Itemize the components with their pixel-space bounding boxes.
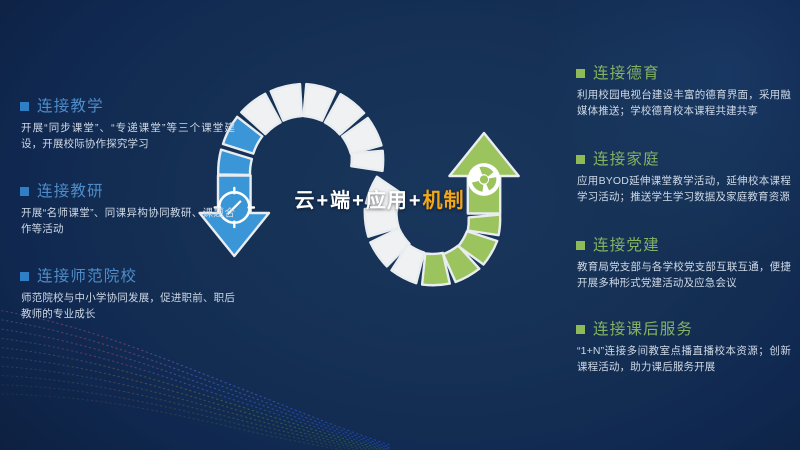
caption-plus-2: + [351, 190, 366, 212]
panel-heading: 连接教学 [20, 99, 235, 115]
square-bullet-icon [20, 102, 29, 111]
panel-heading: 连接教研 [20, 184, 235, 200]
panel-connect-after-school-service[interactable]: 连接课后服务 “1+N”连接多间教室点播直播校本资源；创新课程活动，助力课后服务… [576, 322, 791, 375]
caption-part-3: 应用 [366, 190, 408, 212]
panel-connect-family[interactable]: 连接家庭 应用BYOD延伸课堂教学活动，延伸校本课程学习活动；推送学生学习数据及… [576, 152, 791, 205]
panel-connect-teaching[interactable]: 连接教学 开展“同步课堂”、“专递课堂”等三个课堂建设，开展校际协作探究学习 [20, 99, 235, 152]
caption-part-1: 云 [294, 190, 315, 212]
panel-connect-research[interactable]: 连接教研 开展“名师课堂”、同课异构协同教研、课题合作等活动 [20, 184, 235, 237]
segment-blue-1 [218, 150, 252, 175]
slide-canvas: .seg{stroke:#e9edf0;stroke-width:2.4;str… [0, 0, 800, 450]
panel-heading: 连接党建 [576, 238, 791, 254]
square-bullet-icon [576, 155, 585, 164]
caption-part-2: 端 [330, 190, 351, 212]
square-bullet-icon [20, 187, 29, 196]
panel-body: 应用BYOD延伸课堂教学活动，延伸校本课程学习活动；推送学生学习数据及家庭教育资… [576, 173, 791, 206]
panel-heading: 连接课后服务 [576, 322, 791, 338]
square-bullet-icon [576, 325, 585, 334]
caption-plus-1: + [315, 190, 330, 212]
panel-title: 连接教研 [37, 184, 104, 200]
panel-body: 教育局党支部与各学校党支部互联互通，便捷开展多种形式党建活动及应急会议 [576, 259, 791, 292]
panel-body: 开展“名师课堂”、同课异构协同教研、课题合作等活动 [20, 205, 235, 238]
caption-highlight: 机制 [423, 190, 465, 212]
panel-title: 连接课后服务 [593, 322, 693, 338]
segment-white-8 [351, 151, 383, 171]
panel-title: 连接党建 [593, 238, 660, 254]
panel-connect-party-building[interactable]: 连接党建 教育局党支部与各学校党支部互联互通，便捷开展多种形式党建活动及应急会议 [576, 238, 791, 291]
caption-plus-3: + [408, 190, 423, 212]
center-caption: 云+端+应用+机制 [272, 184, 487, 213]
panel-body: 师范院校与中小学协同发展，促进职前、职后教师的专业成长 [20, 290, 235, 323]
panel-title: 连接教学 [37, 99, 104, 115]
panel-body: “1+N”连接多间教室点播直播校本资源；创新课程活动，助力课后服务开展 [576, 343, 791, 376]
panel-heading: 连接家庭 [576, 152, 791, 168]
square-bullet-icon [576, 69, 585, 78]
panel-heading: 连接师范院校 [20, 269, 235, 285]
panel-body: 利用校园电视台建设丰富的德育界面，采用融媒体推送；学校德育校本课程共建共享 [576, 87, 791, 120]
square-bullet-icon [20, 272, 29, 281]
panel-title: 连接师范院校 [37, 269, 137, 285]
panel-heading: 连接德育 [576, 66, 791, 82]
panel-body: 开展“同步课堂”、“专递课堂”等三个课堂建设，开展校际协作探究学习 [20, 120, 235, 153]
panel-connect-moral-education[interactable]: 连接德育 利用校园电视台建设丰富的德育界面，采用融媒体推送；学校德育校本课程共建… [576, 66, 791, 119]
panel-connect-normal-colleges[interactable]: 连接师范院校 师范院校与中小学协同发展，促进职前、职后教师的专业成长 [20, 269, 235, 322]
square-bullet-icon [576, 241, 585, 250]
panel-title: 连接家庭 [593, 152, 660, 168]
segment-green-16 [468, 215, 500, 236]
panel-title: 连接德育 [593, 66, 660, 82]
